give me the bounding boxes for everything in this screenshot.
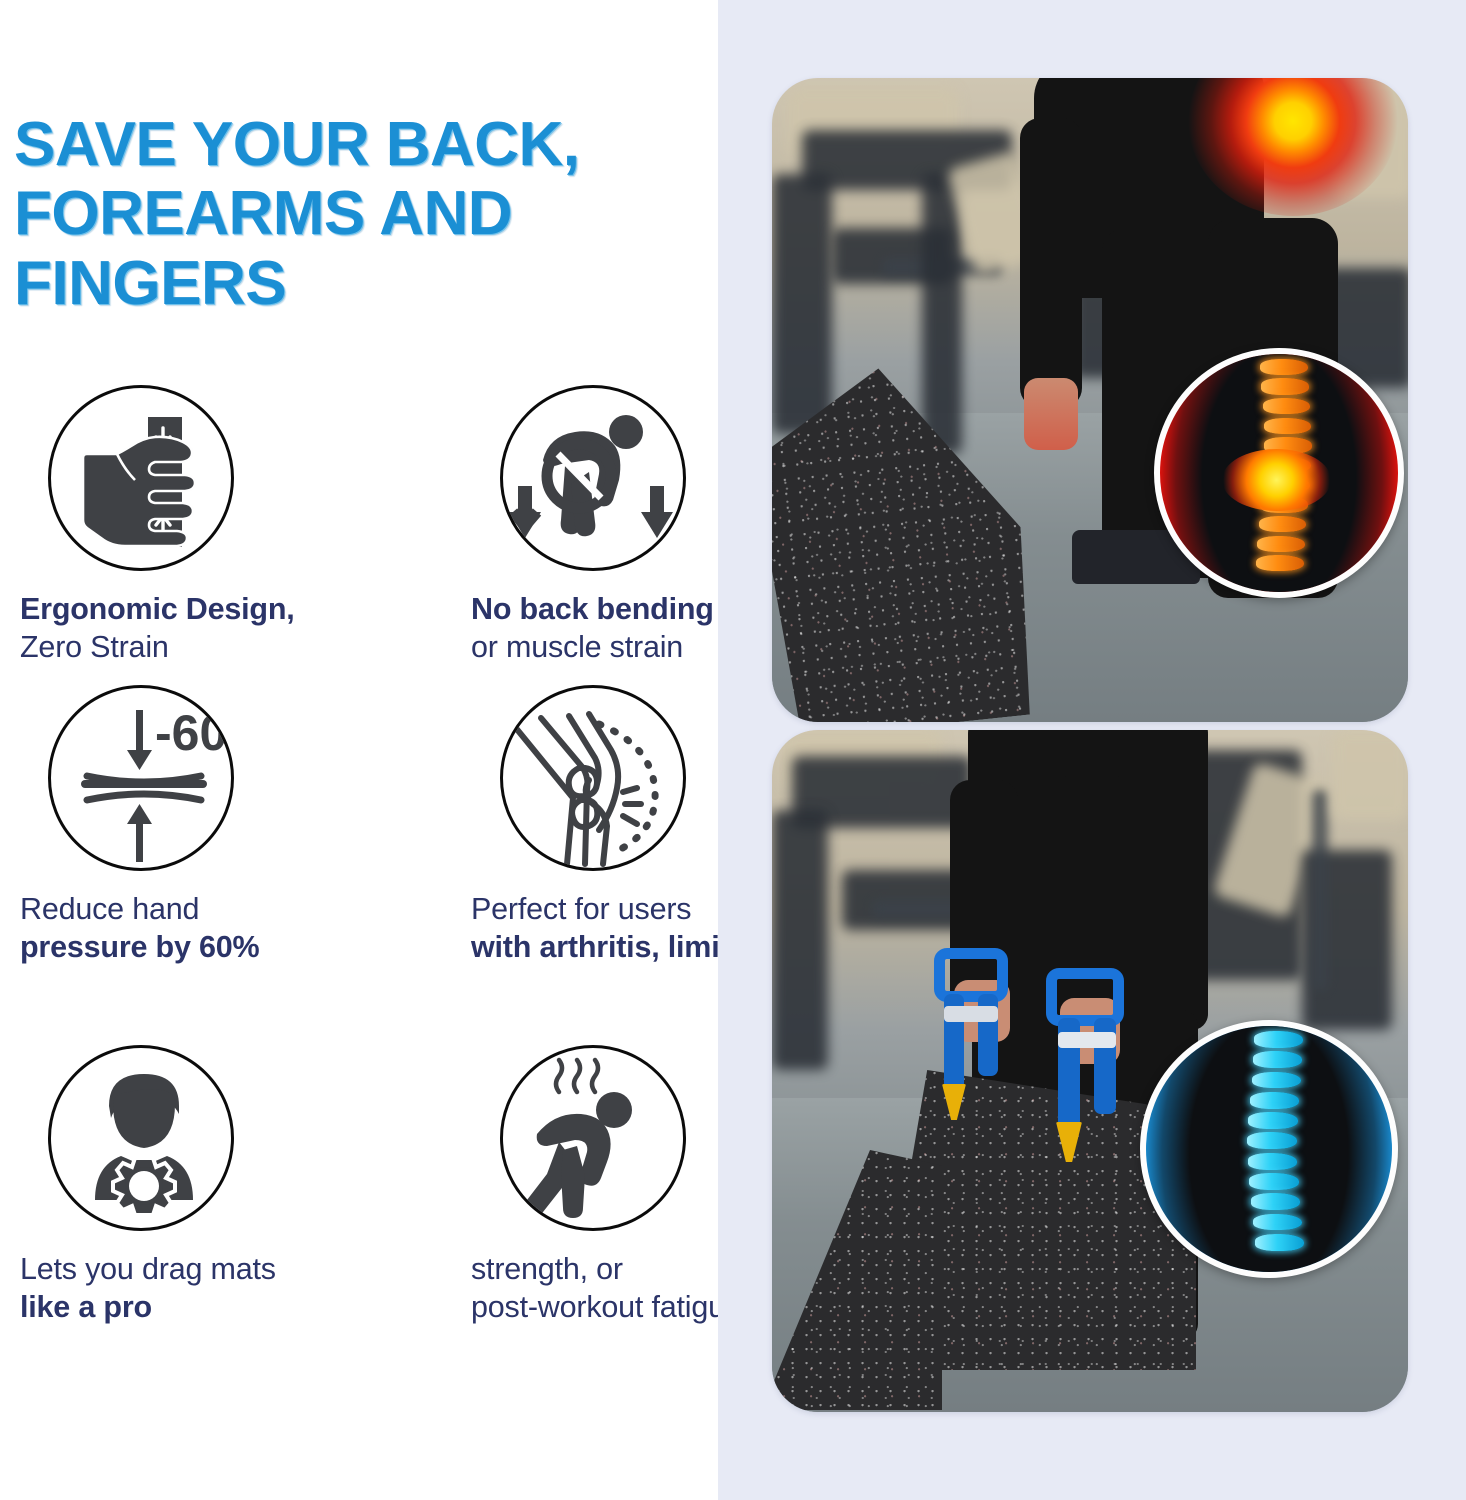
painful-spine-inset (1154, 348, 1404, 598)
infographic-page: SAVE YOUR BACK, FOREARMS AND FINGERS E (0, 0, 1466, 1500)
person-hand-gripping (1024, 378, 1078, 450)
headline-line-2: FOREARMS AND (14, 179, 714, 248)
feature-caption: Lets you drag mats like a pro (20, 1250, 320, 1327)
page-title: SAVE YOUR BACK, FOREARMS AND FINGERS (14, 110, 714, 318)
hand-grip-icon (48, 385, 234, 571)
left-content-panel: SAVE YOUR BACK, FOREARMS AND FINGERS E (0, 0, 718, 1500)
feature-post-workout-fatigue: strength, or post-workout fatigue. (415, 1045, 718, 1375)
pain-hotspot (1222, 449, 1331, 511)
pressure-reduction-icon: -60 (48, 685, 234, 871)
caption-line-2: Zero Strain (20, 628, 320, 666)
spine-blue (1249, 1031, 1298, 1267)
feature-caption: Reduce hand pressure by 60% (20, 890, 320, 967)
gym-scene (772, 78, 1408, 722)
caption-line-1: Lets you drag mats (20, 1250, 320, 1288)
feature-grid: Ergonomic Design, Zero Strain (0, 385, 718, 1375)
gripper-tool-carrying-photo (772, 730, 1408, 1412)
fatigue-icon (500, 1045, 686, 1231)
caption-line-2: like a pro (20, 1288, 320, 1326)
gripper-tip (942, 1084, 966, 1120)
healthy-spine-inset (1140, 1020, 1398, 1278)
headline-line-3: FINGERS (14, 249, 714, 318)
caption-line-2: pressure by 60% (20, 928, 320, 966)
manual-mat-lifting-photo (772, 78, 1408, 722)
photo-column (718, 0, 1466, 1500)
gripper-handle (934, 948, 1008, 1002)
feature-ergonomic-design: Ergonomic Design, Zero Strain (0, 385, 415, 685)
caption-line-1: Ergonomic Design, (20, 590, 320, 628)
headline-line-1: SAVE YOUR BACK, (14, 110, 714, 179)
feature-caption: Ergonomic Design, Zero Strain (20, 590, 320, 667)
gripper-pad (944, 1006, 998, 1022)
pressure-badge: -60 (155, 705, 227, 761)
person-arm (1020, 118, 1082, 408)
gripper-pad (1058, 1032, 1116, 1048)
mat-gripper-tool-right (1044, 968, 1128, 1178)
joint-pain-icon (500, 685, 686, 871)
feature-arthritis-friendly: Perfect for users with arthritis, limite… (415, 685, 718, 1045)
feature-drag-like-a-pro: Lets you drag mats like a pro (0, 1045, 415, 1375)
feature-pressure-reduction: -60 Reduce hand pressure by 60% (0, 685, 415, 1045)
gym-scene (772, 730, 1408, 1412)
no-back-bending-icon (500, 385, 686, 571)
gripper-handle (1046, 968, 1124, 1026)
gripper-tip (1056, 1122, 1082, 1162)
mat-gripper-tool-left (932, 948, 1012, 1138)
caption-line-1: Reduce hand (20, 890, 320, 928)
feature-no-back-bending: No back bending or muscle strain (415, 385, 718, 685)
person-gear-icon (48, 1045, 234, 1231)
